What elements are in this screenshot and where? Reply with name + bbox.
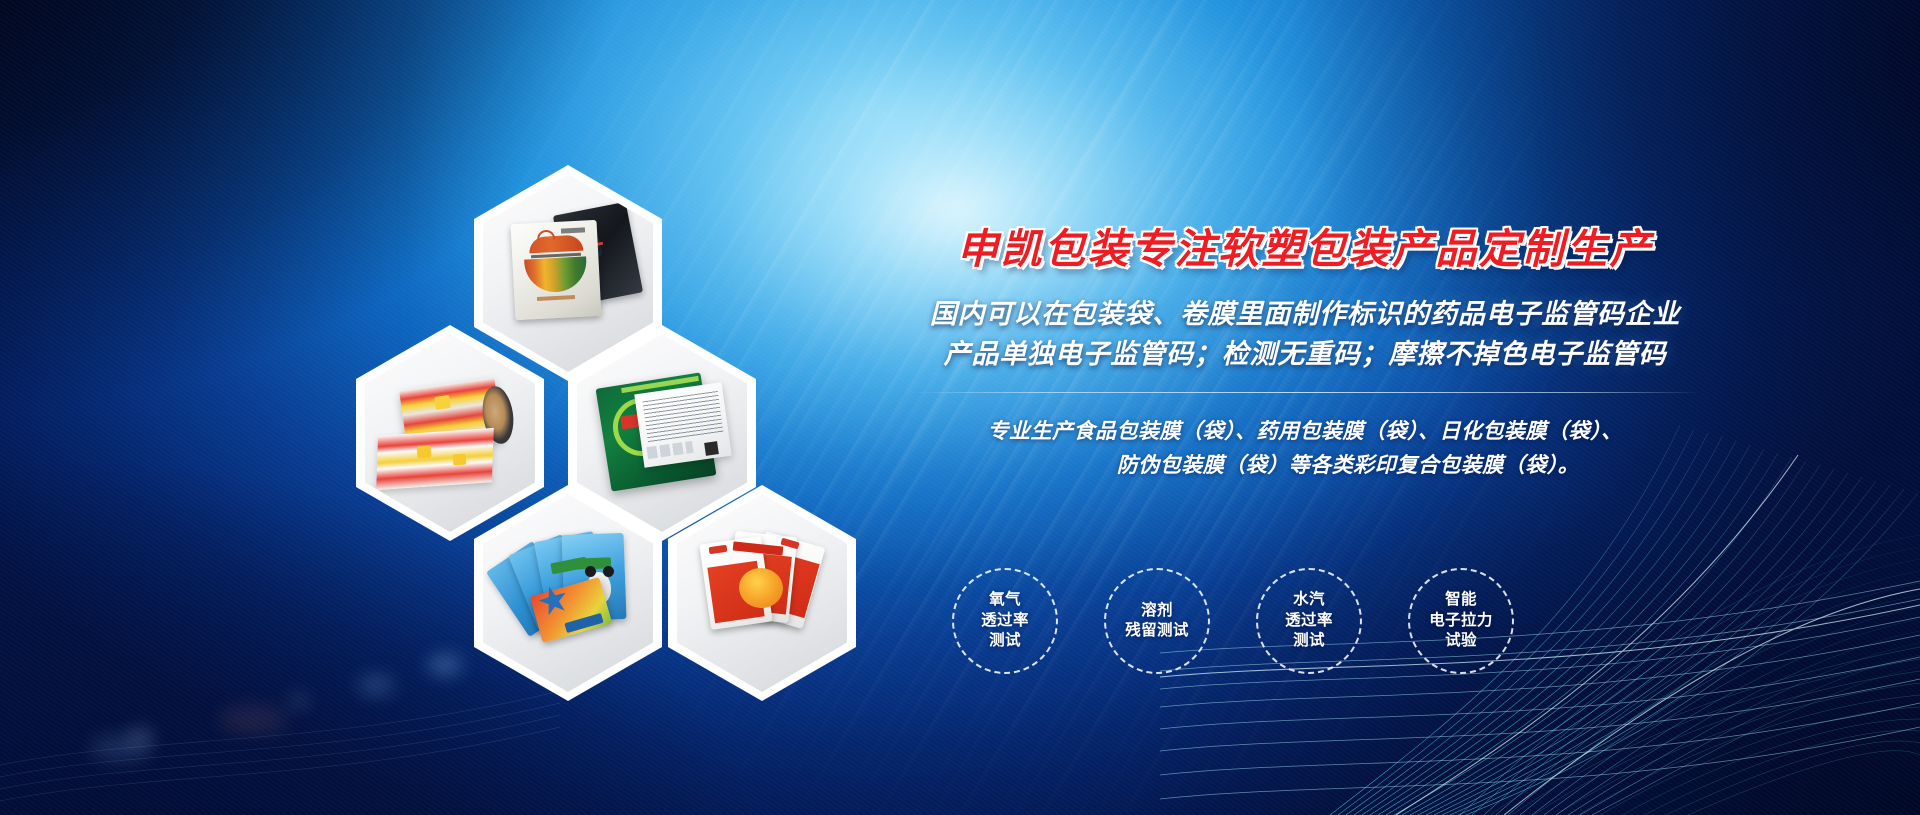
subtitle-line-1: 国内可以在包装袋、卷膜里面制作标识的药品电子监管码企业 xyxy=(790,295,1820,334)
promo-banner: 申凯包装专注软塑包装产品定制生产 国内可以在包装袋、卷膜里面制作标识的药品电子监… xyxy=(0,0,1920,815)
hexagon-inner-surface xyxy=(483,174,653,372)
banner-copy-block: 申凯包装专注软塑包装产品定制生产 国内可以在包装袋、卷膜里面制作标识的药品电子监… xyxy=(790,225,1820,483)
hexagon-inner-surface xyxy=(577,334,747,532)
page-title: 申凯包装专注软塑包装产品定制生产 xyxy=(790,225,1820,273)
character-graphic-ear xyxy=(603,566,614,577)
product-hexagon-cluster xyxy=(356,165,756,725)
product-film-web xyxy=(376,428,494,490)
product-print-mark xyxy=(434,395,451,410)
product-hexagon-printed-film-roll[interactable] xyxy=(356,325,544,541)
insert-qr-mark xyxy=(704,441,719,456)
product-print-mark xyxy=(417,446,432,459)
badge-label: 智能 电子拉力 试验 xyxy=(1429,590,1493,651)
divider xyxy=(910,392,1700,393)
product-print-mark xyxy=(453,454,467,466)
badge-label: 氧气 透过率 测试 xyxy=(981,590,1029,651)
subtitle-line-2: 产品单独电子监管码；检测无重码；摩擦不掉色电子监管码 xyxy=(790,335,1820,374)
description-line-1: 专业生产食品包装膜（袋）、药用包装膜（袋）、日化包装膜（袋）、 xyxy=(790,415,1820,449)
badge-label: 溶剂 残留测试 xyxy=(1125,601,1189,642)
test-capability-badges: 氧气 透过率 测试 溶剂 残留测试 水汽 透过率 测试 智能 电子拉力 试验 xyxy=(952,568,1552,688)
description-line-2: 防伪包装膜（袋）等各类彩印复合包装膜（袋）。 xyxy=(790,449,1820,483)
hexagon-inner-surface xyxy=(483,494,653,692)
badge-solvent-residue-test[interactable]: 溶剂 残留测试 xyxy=(1104,568,1210,674)
subtitle-block: 国内可以在包装袋、卷膜里面制作标识的药品电子监管码企业 产品单独电子监管码；检测… xyxy=(790,295,1820,374)
badge-water-vapor-transmission-test[interactable]: 水汽 透过率 测试 xyxy=(1256,568,1362,674)
hexagon-inner-surface xyxy=(677,494,847,692)
hexagon-inner-surface xyxy=(365,334,535,532)
badge-label: 水汽 透过率 测试 xyxy=(1285,590,1333,651)
character-graphic-ear xyxy=(585,566,596,577)
badge-smart-electronic-tensile-test[interactable]: 智能 电子拉力 试验 xyxy=(1408,568,1514,674)
badge-oxygen-transmission-test[interactable]: 氧气 透过率 测试 xyxy=(952,568,1058,674)
description-block: 专业生产食品包装膜（袋）、药用包装膜（袋）、日化包装膜（袋）、 防伪包装膜（袋）… xyxy=(790,415,1820,483)
